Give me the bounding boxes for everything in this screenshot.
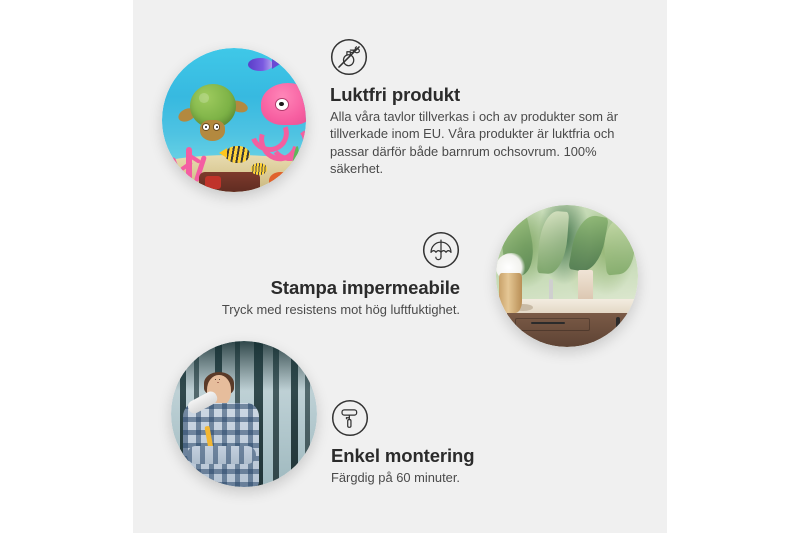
feature-heading: Stampa impermeabile — [218, 277, 460, 298]
feature-heading: Enkel montering — [331, 445, 591, 466]
yellow-striped-fish-icon — [225, 146, 249, 163]
octopus-eye — [275, 98, 289, 111]
turtle-eye-left — [202, 123, 210, 130]
umbrella-icon — [422, 231, 460, 269]
feature-block-waterproof: Stampa impermeabile Tryck med resistens … — [218, 231, 460, 318]
cabinet-handle — [616, 317, 620, 335]
wallpaper-leaf — [568, 213, 609, 275]
photo-underwater-inner — [162, 48, 306, 192]
feature-heading: Luktfri produkt — [330, 84, 630, 105]
feature-body: Färgdig på 60 minuter. — [331, 469, 591, 486]
feature-block-assembly: Enkel montering Färgdig på 60 minuter. — [331, 399, 591, 486]
feature-body: Tryck med resistens mot hög luftfuktighe… — [218, 301, 460, 318]
product-feature-infographic: Luktfri produkt Alla våra tavlor tillver… — [0, 0, 800, 533]
wooden-vanity — [507, 313, 638, 347]
gold-vase — [499, 273, 522, 313]
crab — [269, 172, 292, 189]
sunken-chest — [199, 172, 259, 192]
drawer-handle — [531, 322, 565, 323]
feature-body: Alla våra tavlor tillverkas i och av pro… — [330, 108, 630, 177]
photo-bathroom-inner — [496, 205, 638, 347]
vanity-drawer — [515, 318, 590, 332]
paint-roller-icon-svg — [331, 399, 369, 437]
purple-fish-icon — [248, 58, 272, 71]
woman-smile — [217, 382, 219, 383]
wallpaper-leaf — [536, 210, 569, 275]
photo-painter — [171, 341, 317, 487]
no-spray-bottle-icon — [330, 38, 368, 76]
sea-turtle — [181, 83, 244, 143]
woman-eye-left — [215, 379, 216, 380]
woman-plaid-shirt — [183, 403, 259, 487]
no-spray-bottle-icon-svg — [330, 38, 368, 76]
woman-folded-arms — [187, 446, 256, 464]
photo-underwater — [162, 48, 306, 192]
umbrella-icon-svg — [422, 231, 460, 269]
woman-with-paint-roller — [180, 373, 271, 487]
octopus-head — [261, 83, 306, 126]
small-fish-icon — [251, 163, 267, 175]
turtle-eye-right — [213, 123, 221, 130]
paint-roller-icon — [331, 399, 369, 437]
photo-bathroom — [496, 205, 638, 347]
photo-painter-inner — [171, 341, 317, 487]
feature-block-odourless: Luktfri produkt Alla våra tavlor tillver… — [330, 38, 630, 177]
woman-eye-right — [219, 379, 220, 380]
octopus — [246, 83, 306, 152]
